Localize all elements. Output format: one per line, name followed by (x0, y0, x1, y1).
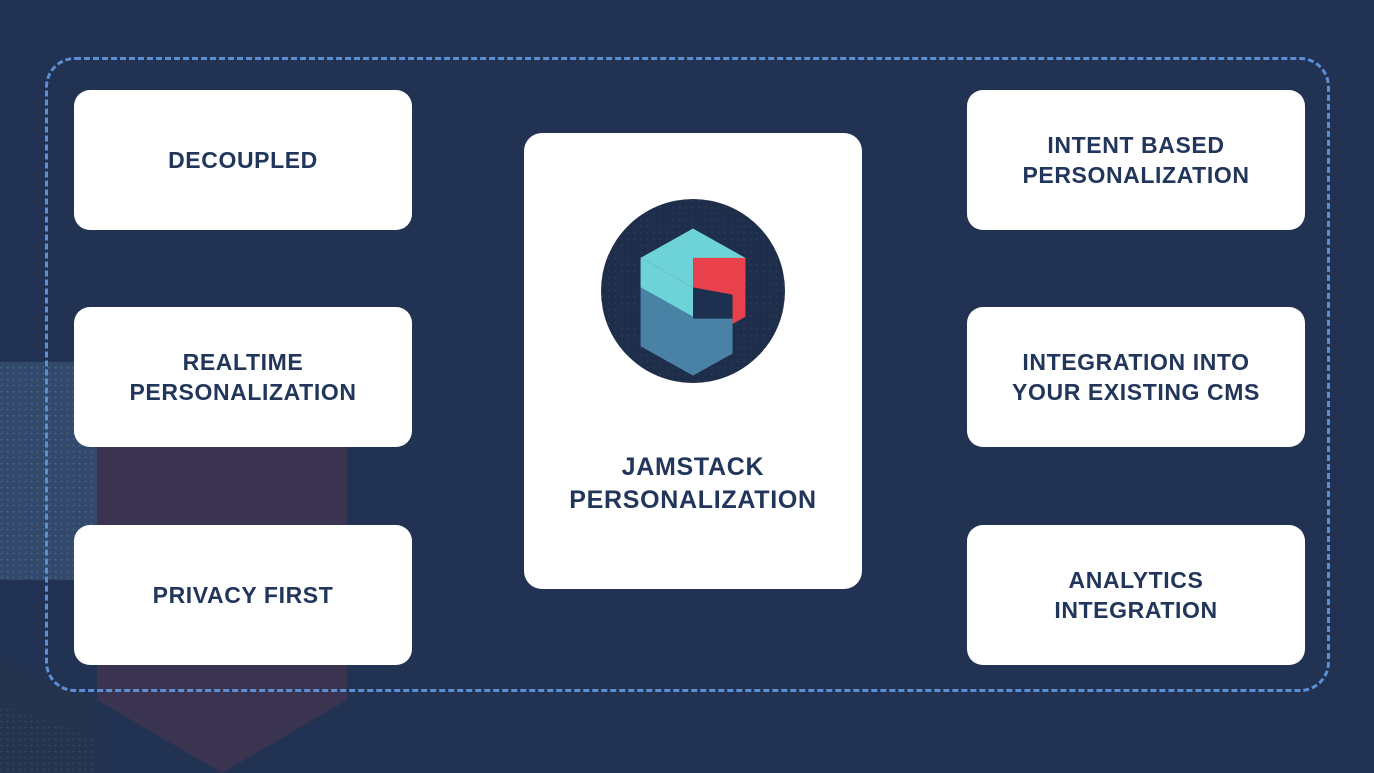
feature-card-analytics-integration[interactable]: ANALYTICS INTEGRATION (967, 525, 1305, 665)
feature-card-label: ANALYTICS INTEGRATION (1038, 565, 1233, 626)
slide-canvas: DECOUPLED REALTIME PERSONALIZATION PRIVA… (0, 0, 1374, 773)
feature-card-privacy-first[interactable]: PRIVACY FIRST (74, 525, 412, 665)
feature-card-label: DECOUPLED (152, 145, 334, 175)
center-card-title: JAMSTACK PERSONALIZATION (569, 451, 817, 516)
feature-card-integration-existing-cms[interactable]: INTEGRATION INTO YOUR EXISTING CMS (967, 307, 1305, 447)
jamstack-cube-logo-icon (601, 199, 785, 383)
feature-card-label: PRIVACY FIRST (137, 580, 350, 610)
feature-card-label: INTENT BASED PERSONALIZATION (1006, 130, 1265, 191)
feature-card-intent-based-personalization[interactable]: INTENT BASED PERSONALIZATION (967, 90, 1305, 230)
feature-card-label: REALTIME PERSONALIZATION (113, 347, 372, 408)
feature-card-realtime-personalization[interactable]: REALTIME PERSONALIZATION (74, 307, 412, 447)
feature-card-label: INTEGRATION INTO YOUR EXISTING CMS (996, 347, 1276, 408)
logo-face-right-upper (693, 258, 745, 287)
decor-dark-triangle-dots (0, 700, 97, 773)
center-card-jamstack-personalization[interactable]: JAMSTACK PERSONALIZATION (524, 133, 862, 589)
feature-card-decoupled[interactable]: DECOUPLED (74, 90, 412, 230)
